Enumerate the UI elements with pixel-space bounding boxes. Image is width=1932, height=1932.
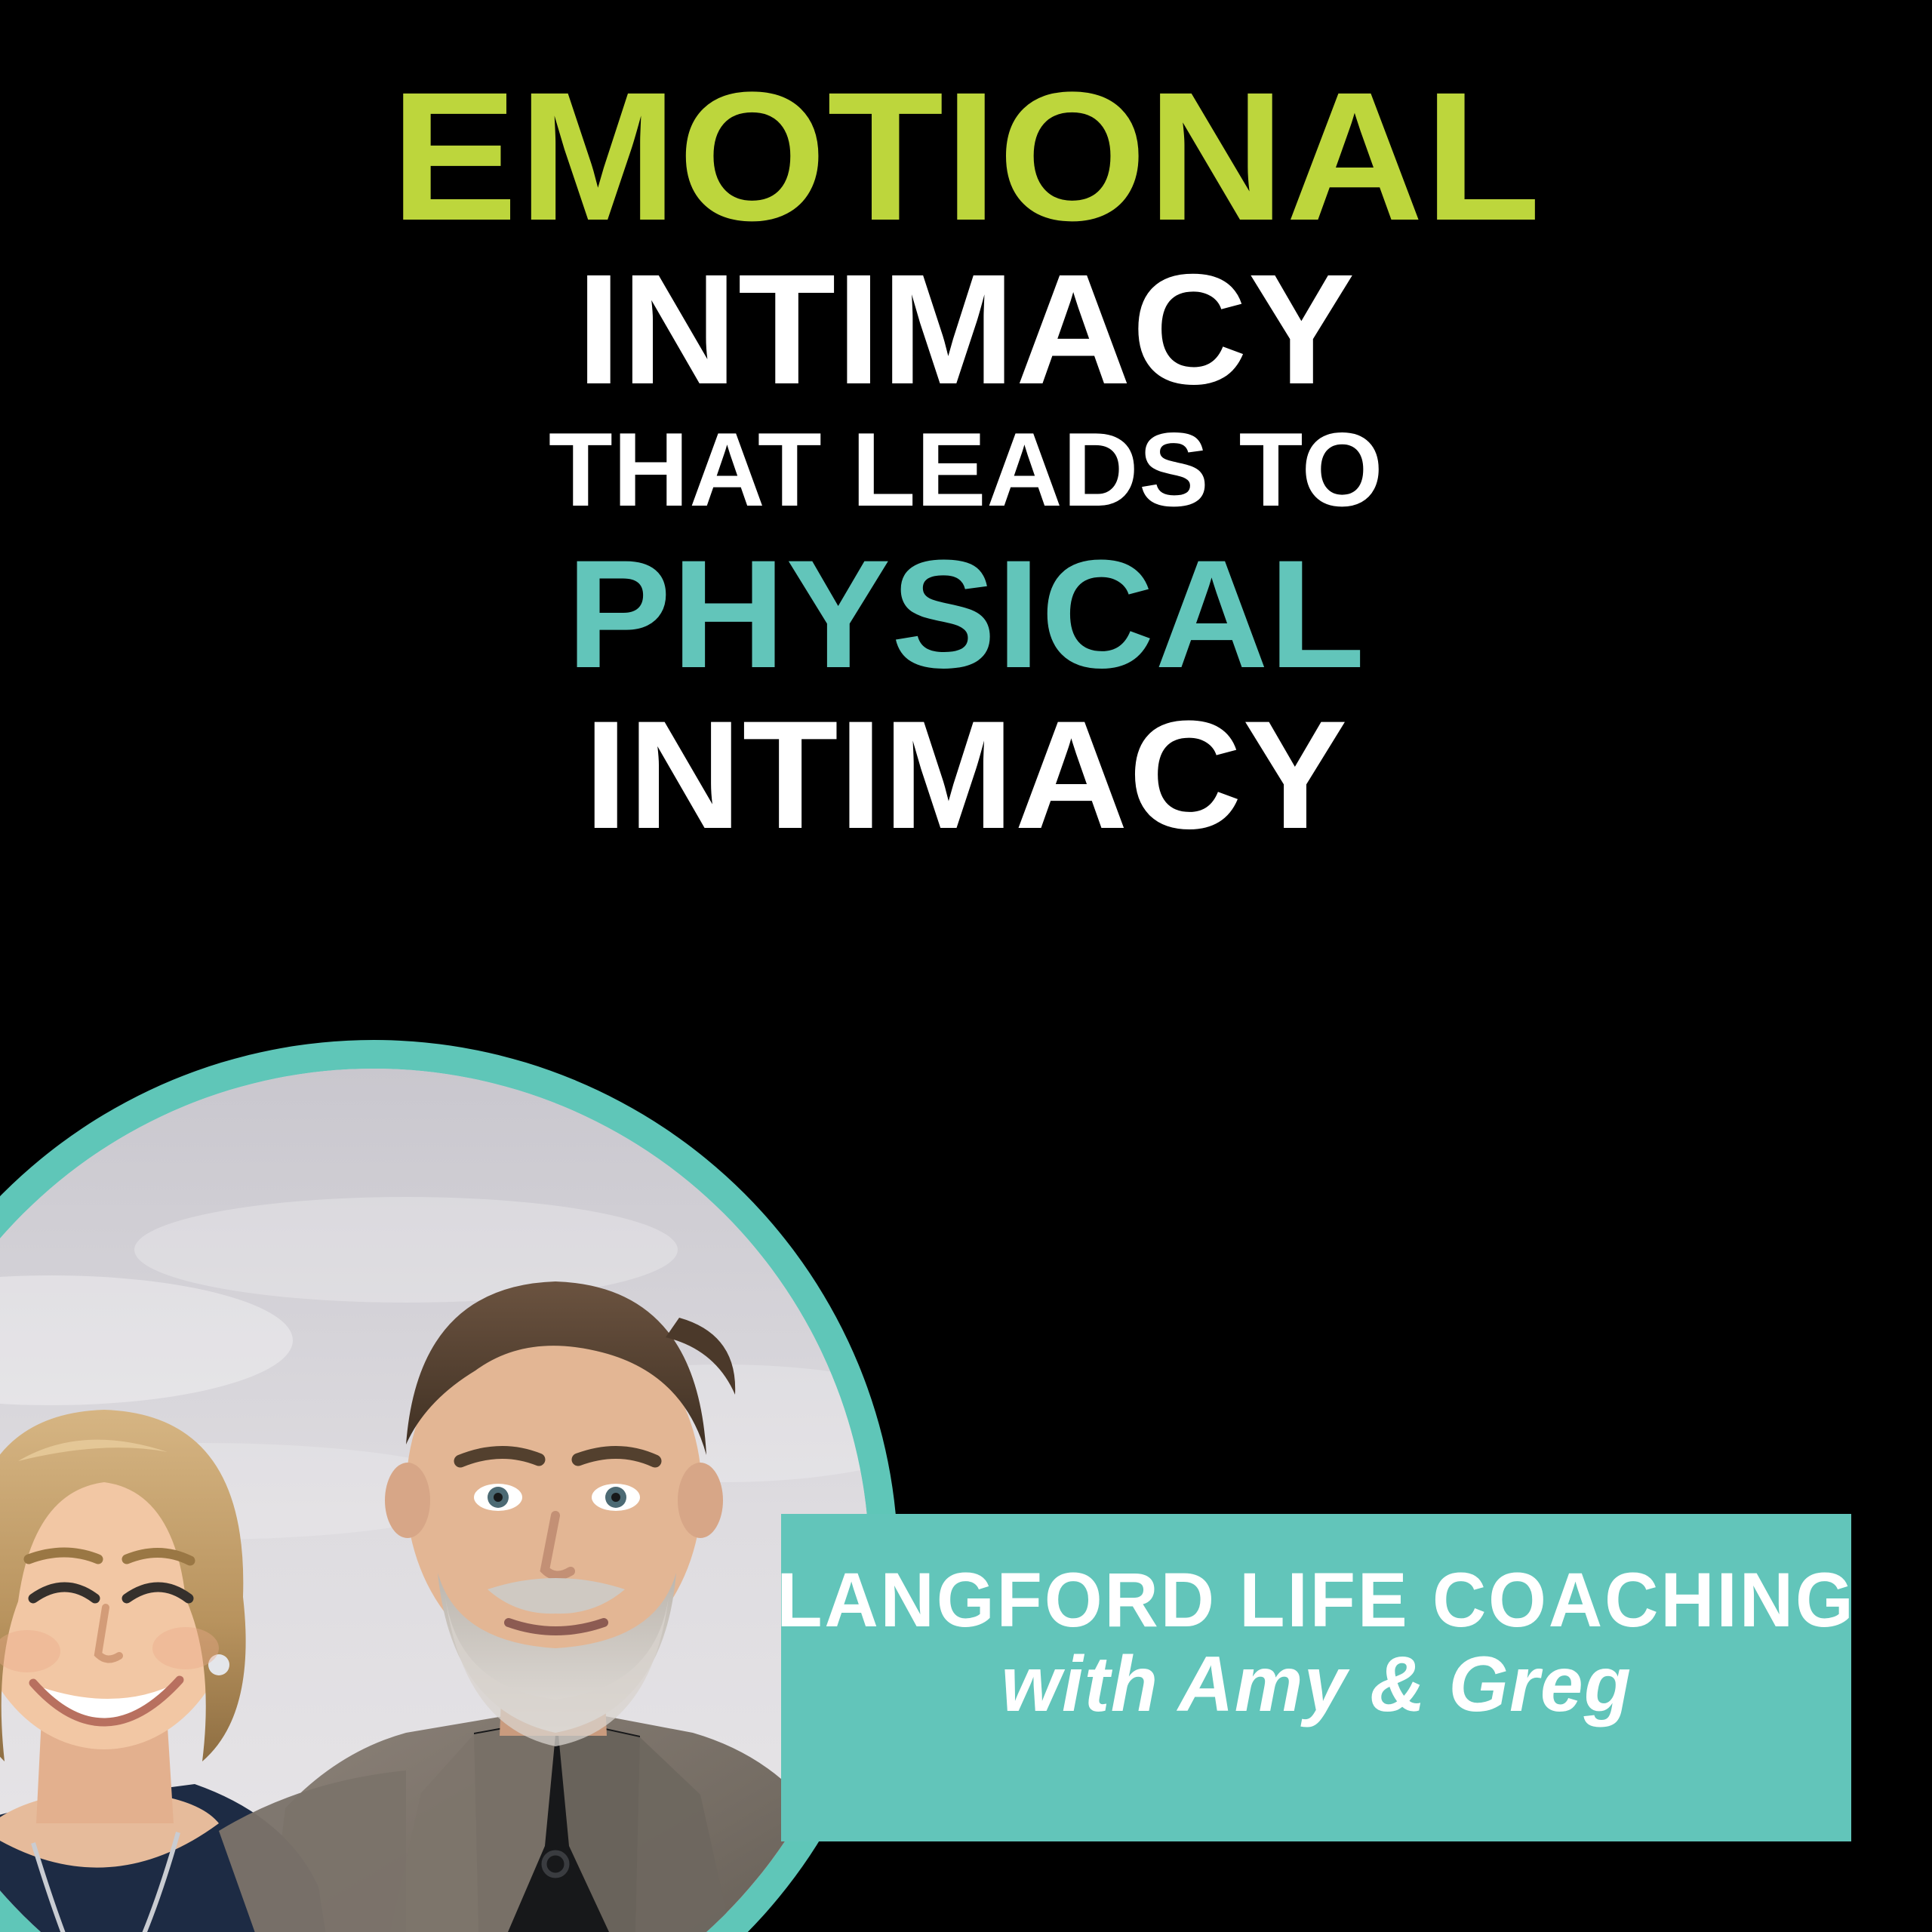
brand-subtitle: with Amy & Greg — [1001, 1644, 1632, 1726]
podcast-cover-art: EMOTIONAL INTIMACY THAT LEADS TO PHYSICA… — [0, 0, 1932, 1932]
title-line-intimacy-1: INTIMACY — [0, 258, 1932, 402]
title-line-emotional: EMOTIONAL — [0, 72, 1932, 241]
brand-banner: LANGFORD LIFE COACHING with Amy & Greg — [781, 1514, 1851, 1841]
brand-name: LANGFORD LIFE COACHING — [777, 1561, 1856, 1639]
title-line-physical: PHYSICAL — [0, 544, 1932, 686]
host-photo-circle — [0, 1040, 898, 1932]
host-photo-illustration — [0, 1069, 869, 1932]
title-line-intimacy-2: INTIMACY — [0, 705, 1932, 847]
title-line-that-leads-to: THAT LEADS TO — [0, 422, 1932, 518]
title-block: EMOTIONAL INTIMACY THAT LEADS TO PHYSICA… — [0, 72, 1932, 847]
host-photo — [0, 1069, 869, 1932]
